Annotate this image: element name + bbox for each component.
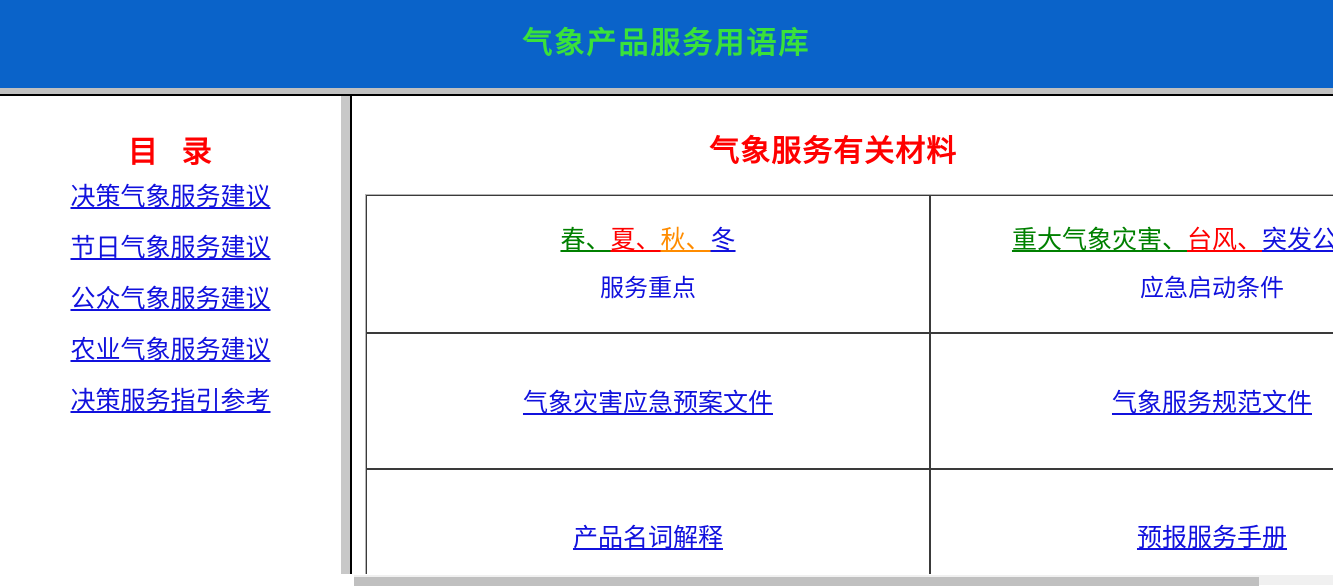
sidebar-link-list: 决策气象服务建议 节日气象服务建议 公众气象服务建议 农业气象服务建议 决策服务…	[0, 185, 341, 416]
page-title: 气象服务有关材料	[354, 126, 1333, 170]
cell-forecast-manual[interactable]: 预报服务手册	[930, 469, 1333, 574]
sidebar-item-public-advice[interactable]: 公众气象服务建议	[70, 284, 270, 313]
link-service-standard-documents[interactable]: 气象服务规范文件	[1112, 388, 1312, 417]
link-typhoon[interactable]: 台风、	[1187, 225, 1262, 254]
list-item: 农业气象服务建议	[0, 338, 341, 365]
link-autumn[interactable]: 秋、	[661, 225, 711, 254]
table-row: 产品名词解释 预报服务手册	[366, 469, 1333, 574]
sidebar-heading: 目 录	[0, 127, 341, 171]
content-frame: 气象服务有关材料 春、夏、秋、冬 服务重点 重大气象灾害、台风、突发公共事件 应…	[354, 97, 1333, 574]
emergency-link-row: 重大气象灾害、台风、突发公共事件	[931, 223, 1333, 257]
horizontal-scrollbar[interactable]	[354, 574, 1333, 585]
materials-table: 春、夏、秋、冬 服务重点 重大气象灾害、台风、突发公共事件 应急启动条件 气象灾…	[365, 194, 1333, 574]
cell-service-standard-docs[interactable]: 气象服务规范文件	[930, 333, 1333, 469]
table-row: 气象灾害应急预案文件 气象服务规范文件	[366, 333, 1333, 469]
sidebar-menu-frame: 目 录 决策气象服务建议 节日气象服务建议 公众气象服务建议 农业气象服务建议 …	[0, 97, 341, 585]
link-public-emergency[interactable]: 突发公共事件	[1262, 225, 1333, 254]
frame-divider-vertical[interactable]	[341, 96, 352, 585]
cell-product-glossary[interactable]: 产品名词解释	[366, 469, 930, 574]
seasonal-link-row: 春、夏、秋、冬	[367, 223, 929, 257]
cell-seasonal-service[interactable]: 春、夏、秋、冬 服务重点	[366, 195, 930, 333]
cell-disaster-plan-docs[interactable]: 气象灾害应急预案文件	[366, 333, 930, 469]
banner-frame: 气象产品服务用语库	[0, 0, 1333, 88]
frame-divider-horizontal[interactable]	[0, 88, 1333, 96]
link-summer[interactable]: 夏、	[610, 225, 660, 254]
cell-emergency-service[interactable]: 重大气象灾害、台风、突发公共事件 应急启动条件	[930, 195, 1333, 333]
sidebar-item-decision-advice[interactable]: 决策气象服务建议	[70, 182, 270, 211]
link-winter[interactable]: 冬	[711, 225, 736, 254]
table-row: 春、夏、秋、冬 服务重点 重大气象灾害、台风、突发公共事件 应急启动条件	[366, 195, 1333, 333]
link-forecast-service-manual[interactable]: 预报服务手册	[1137, 523, 1287, 552]
page-banner-title: 气象产品服务用语库	[0, 0, 1333, 88]
sidebar-item-agriculture-advice[interactable]: 农业气象服务建议	[70, 335, 270, 364]
emergency-subtitle: 应急启动条件	[931, 271, 1333, 305]
link-spring[interactable]: 春、	[560, 225, 610, 254]
link-product-term-explanation[interactable]: 产品名词解释	[573, 523, 723, 552]
scrollbar-corner	[341, 574, 354, 585]
sidebar-item-holiday-advice[interactable]: 节日气象服务建议	[70, 233, 270, 262]
list-item: 节日气象服务建议	[0, 236, 341, 263]
list-item: 决策服务指引参考	[0, 389, 341, 416]
list-item: 决策气象服务建议	[0, 185, 341, 212]
seasonal-subtitle: 服务重点	[367, 271, 929, 305]
link-major-meteorological-disaster[interactable]: 重大气象灾害、	[1012, 225, 1187, 254]
sidebar-item-decision-guide-reference[interactable]: 决策服务指引参考	[70, 386, 270, 415]
link-disaster-emergency-plan-documents[interactable]: 气象灾害应急预案文件	[523, 388, 773, 417]
list-item: 公众气象服务建议	[0, 287, 341, 314]
